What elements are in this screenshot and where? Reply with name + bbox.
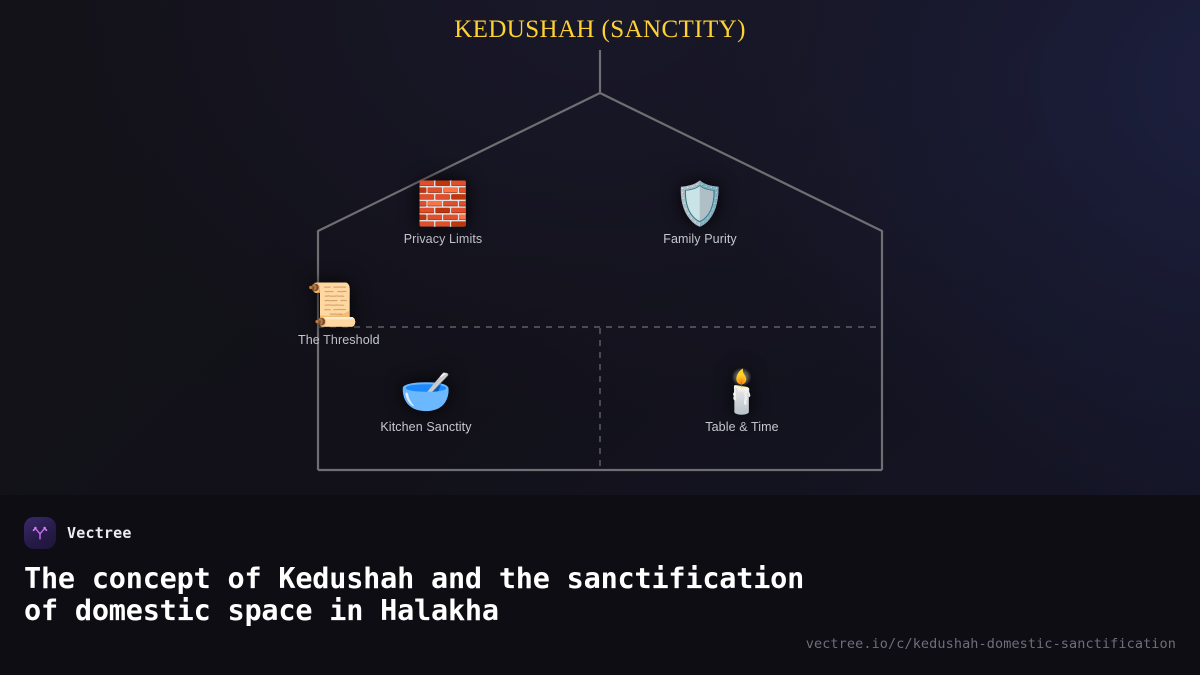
node-family-purity[interactable]: 🛡️ Family Purity	[615, 178, 785, 246]
share-url: vectree.io/c/kedushah-domestic-sanctific…	[806, 636, 1176, 652]
share-title: The concept of Kedushah and the sanctifi…	[24, 563, 824, 627]
diagram-canvas: KEDUSHAH (SANCTITY) 🧱 Privacy Limits 🛡️ …	[0, 0, 1200, 495]
node-label: Kitchen Sanctity	[380, 420, 471, 434]
root-node-title: KEDUSHAH (SANCTITY)	[0, 16, 1200, 44]
brick-wall-icon: 🧱	[417, 178, 469, 230]
brand-name: Vectree	[67, 524, 132, 542]
bowl-with-spoon-icon: 🥣	[400, 366, 452, 418]
node-label: Family Purity	[663, 232, 737, 246]
shield-icon: 🛡️	[674, 178, 726, 230]
node-privacy-limits[interactable]: 🧱 Privacy Limits	[358, 178, 528, 246]
share-footer: Vectree The concept of Kedushah and the …	[0, 495, 1200, 675]
scroll-icon: 📜	[306, 279, 358, 331]
vectree-branch-logo-icon	[24, 517, 56, 549]
node-label: Table & Time	[705, 420, 778, 434]
node-label: The Threshold	[298, 333, 380, 347]
node-kitchen-sanctity[interactable]: 🥣 Kitchen Sanctity	[341, 366, 511, 434]
node-table-and-time[interactable]: 🕯️ Table & Time	[657, 366, 827, 434]
brand-row: Vectree	[24, 517, 1176, 549]
node-the-threshold[interactable]: 📜 The Threshold	[298, 279, 488, 347]
candle-icon: 🕯️	[716, 366, 768, 418]
node-label: Privacy Limits	[404, 232, 483, 246]
house-schematic-svg	[0, 0, 1200, 495]
